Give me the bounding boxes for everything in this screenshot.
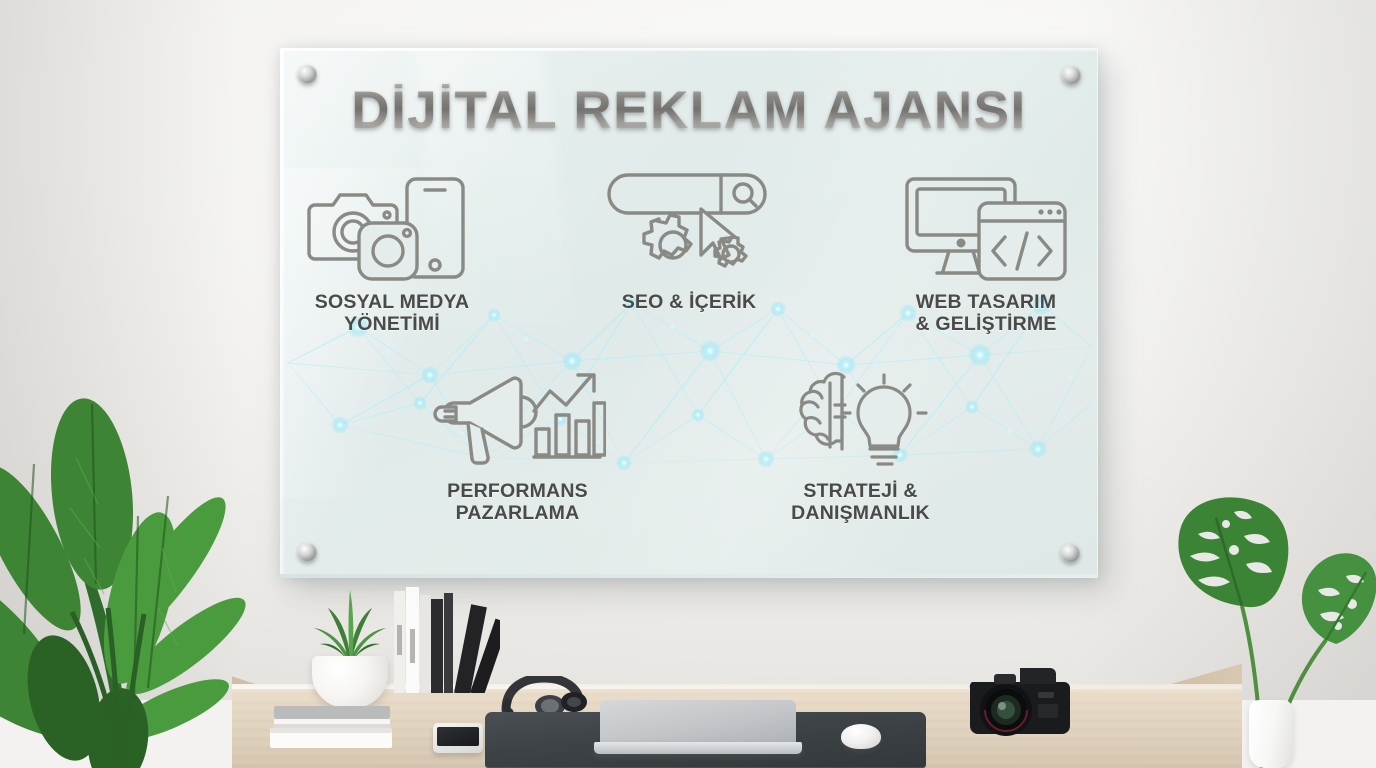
sosyal-medya-icon-group (303, 168, 481, 286)
service-label: SOSYAL MEDYA YÖNETİMİ (315, 292, 470, 336)
service-strateji-danismanlik[interactable]: STRATEJİ & DANIŞMANLIK (753, 363, 968, 525)
standoff-bottom-right (1061, 544, 1080, 563)
service-row-1: SOSYAL MEDYA YÖNETİMİ (280, 168, 1098, 336)
service-label: WEB TASARIM & GELİŞTİRME (915, 292, 1056, 336)
laptop-base (594, 742, 802, 754)
service-label: STRATEJİ & DANIŞMANLIK (791, 481, 930, 525)
standoff-top-left (298, 65, 317, 84)
floor-plant-left (0, 398, 272, 768)
mouse (841, 724, 881, 749)
small-potted-plant (300, 586, 400, 666)
seo-icerik-icon-group (603, 168, 775, 286)
service-performans-pazarlama[interactable]: PERFORMANS PAZARLAMA (410, 363, 625, 525)
standoff-bottom-left (298, 543, 317, 562)
standing-books (392, 585, 500, 693)
headphones (498, 676, 590, 716)
monstera-vase (1249, 700, 1293, 768)
smartphone (433, 723, 483, 753)
scene-root: DİJİTAL REKLAM AJANSI (0, 0, 1376, 768)
performans-icon-group (430, 363, 606, 475)
strateji-icon-group (786, 363, 936, 475)
service-seo-icerik[interactable]: SEO & İÇERİK (582, 168, 797, 336)
panel-title: DİJİTAL REKLAM AJANSI (280, 84, 1098, 137)
dslr-camera (966, 652, 1070, 740)
panel-bottom-edge-highlight (280, 574, 1098, 578)
laptop (594, 700, 802, 756)
panel-top-edge-highlight (280, 48, 1098, 51)
stacked-books (268, 702, 394, 750)
service-label: SEO & İÇERİK (622, 292, 757, 314)
web-tasarim-icon-group (901, 168, 1071, 286)
laptop-lid (600, 700, 796, 744)
panel-left-edge-highlight (280, 48, 284, 578)
service-label: PERFORMANS PAZARLAMA (447, 481, 588, 525)
standoff-top-right (1062, 66, 1081, 85)
glass-sign-panel[interactable]: DİJİTAL REKLAM AJANSI (280, 48, 1098, 578)
service-sosyal-medya[interactable]: SOSYAL MEDYA YÖNETİMİ (285, 168, 500, 336)
service-web-tasarim[interactable]: WEB TASARIM & GELİŞTİRME (879, 168, 1094, 336)
service-row-2: PERFORMANS PAZARLAMA (280, 363, 1098, 525)
